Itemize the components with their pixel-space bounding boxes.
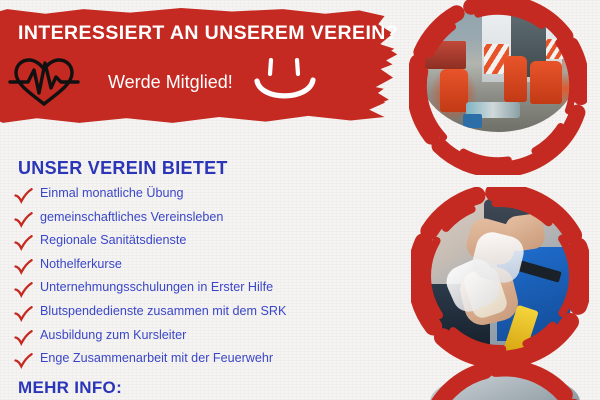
check-mark-icon xyxy=(14,306,33,322)
banner-brush-edge-lower xyxy=(360,84,394,114)
photo-image xyxy=(420,196,580,354)
list-item: Regionale Sanitätsdienste xyxy=(14,232,384,256)
ambulance-scene xyxy=(418,6,578,132)
subtitle: Werde Mitglied! xyxy=(108,72,233,93)
page-title: INTERESSIERT AN UNSEREM VEREIN? xyxy=(18,22,398,45)
check-mark-icon xyxy=(14,235,33,251)
list-item: Unternehmungsschulungen in Erster Hilfe xyxy=(14,279,384,303)
smiley-face-icon xyxy=(246,50,324,112)
more-info-heading: MEHR INFO: xyxy=(18,378,122,398)
check-mark-icon xyxy=(14,188,33,204)
list-item-label: Blutspendedienste zusammen mit dem SRK xyxy=(40,304,286,318)
poster-canvas: INTERESSIERT AN UNSEREM VEREIN? Werde Mi… xyxy=(0,0,600,400)
check-mark-icon xyxy=(14,212,33,228)
photo-image xyxy=(418,6,578,132)
list-item-label: Regionale Sanitätsdienste xyxy=(40,233,186,247)
check-mark-icon xyxy=(14,353,33,369)
medical-kit-shape xyxy=(463,114,482,128)
paramedics-ambulance-photo xyxy=(418,6,578,132)
list-item: Ausbildung zum Kursleiter xyxy=(14,327,384,351)
list-item-label: Nothelferkurse xyxy=(40,257,122,271)
list-item: Einmal monatliche Übung xyxy=(14,185,384,209)
offers-list: Einmal monatliche Übung gemeinschaftlich… xyxy=(14,185,384,374)
list-item-label: Unternehmungsschulungen in Erster Hilfe xyxy=(40,280,273,294)
fire-truck-shape xyxy=(424,41,466,69)
medic-figure xyxy=(440,69,467,112)
list-item-label: Einmal monatliche Übung xyxy=(40,186,184,200)
offers-heading: UNSER VEREIN BIETET xyxy=(18,158,228,179)
check-mark-icon xyxy=(14,330,33,346)
third-photo-cropped xyxy=(430,372,580,400)
ambulance-stripe-shape xyxy=(546,39,568,59)
list-item: Blutspendedienste zusammen mit dem SRK xyxy=(14,303,384,327)
medic-figure xyxy=(530,61,562,104)
third-scene xyxy=(430,372,580,400)
list-item-label: Ausbildung zum Kursleiter xyxy=(40,328,186,342)
list-item: gemeinschaftliches Vereinsleben xyxy=(14,209,384,233)
check-mark-icon xyxy=(14,282,33,298)
bandaging-scene xyxy=(420,196,580,354)
bandaging-hands-photo xyxy=(420,196,580,354)
check-mark-icon xyxy=(14,259,33,275)
heart-pulse-icon xyxy=(8,55,80,107)
medic-figure xyxy=(504,56,526,101)
list-item: Enge Zusammenarbeit mit der Feuerwehr xyxy=(14,350,384,374)
list-item-label: Enge Zusammenarbeit mit der Feuerwehr xyxy=(40,351,273,365)
photo-image xyxy=(430,372,580,400)
list-item-label: gemeinschaftliches Vereinsleben xyxy=(40,210,223,224)
list-item: Nothelferkurse xyxy=(14,256,384,280)
